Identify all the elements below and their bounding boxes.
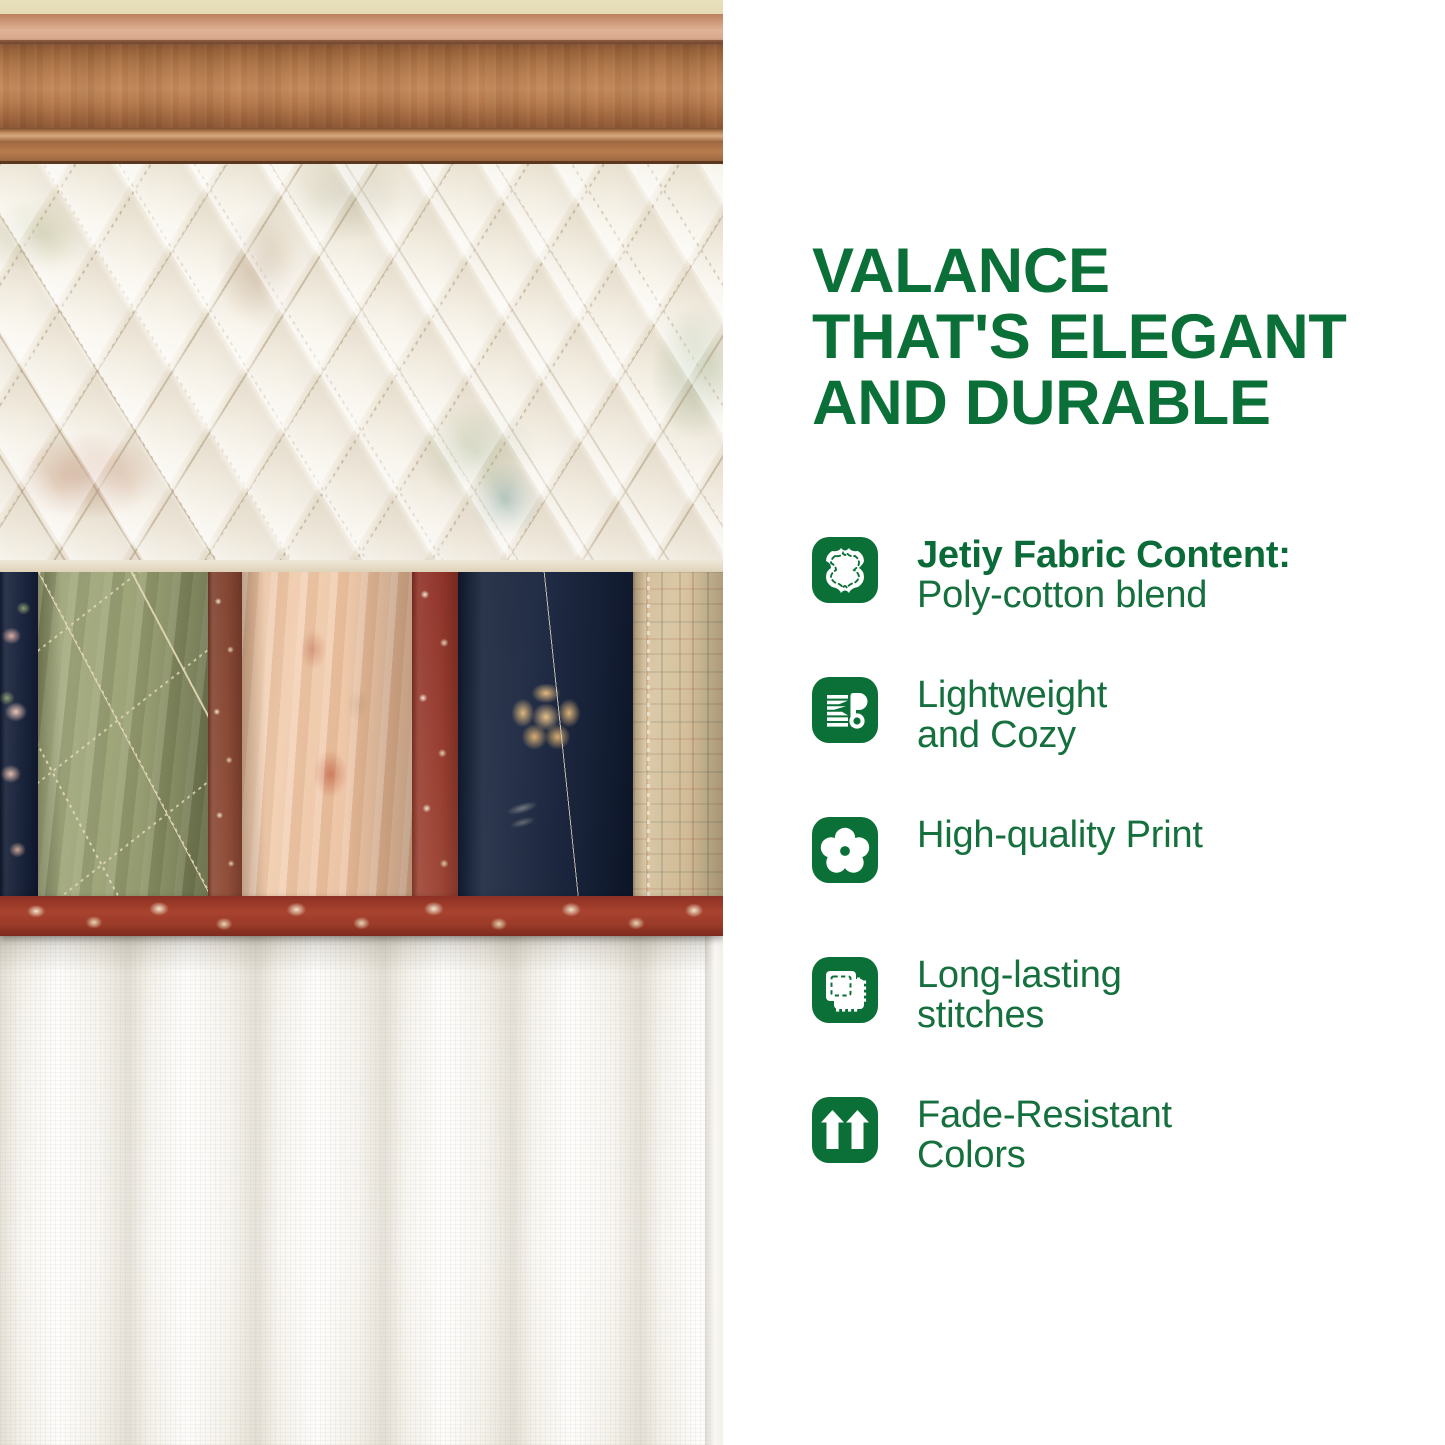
feature-label: Fade-Resistant Colors xyxy=(917,1094,1172,1176)
quilt-stitch-lines xyxy=(38,560,208,905)
feature-label-line: Long-lasting xyxy=(917,955,1122,995)
fern-sprig-motif xyxy=(491,788,558,848)
rust-floral-binding xyxy=(0,896,723,936)
cornice-top-lip xyxy=(0,14,723,44)
feature-label-line: Colors xyxy=(917,1135,1172,1175)
patch-rust-floral-wide xyxy=(412,560,458,905)
patch-peach-botanical xyxy=(242,560,412,905)
feature-label-line: Lightweight xyxy=(917,675,1107,715)
headline-line-1: VALANCE xyxy=(812,238,1372,304)
stitched-fabric-layers-icon xyxy=(812,957,878,1023)
feature-label-line: and Cozy xyxy=(917,715,1107,755)
quilt-stitch-lines xyxy=(458,560,633,905)
feature-item-fabric-content: Jetiy Fabric Content: Poly-cotton blend xyxy=(812,534,1412,674)
patch-navy-floral xyxy=(0,560,38,905)
patch-olive-green xyxy=(38,560,208,905)
feature-label-line: High-quality Print xyxy=(917,815,1203,855)
patch-tan-plaid xyxy=(633,560,723,905)
curtain-right-edge xyxy=(705,932,723,1445)
product-photo xyxy=(0,0,723,1445)
feature-label: Long-lasting stitches xyxy=(917,954,1122,1036)
feature-item-lightweight: Lightweight and Cozy xyxy=(812,674,1412,814)
headline-line-2: THAT'S ELEGANT xyxy=(812,304,1372,370)
feature-item-print: High-quality Print xyxy=(812,814,1412,954)
flower-icon xyxy=(812,817,878,883)
feature-list: Jetiy Fabric Content: Poly-cotton blend xyxy=(812,534,1412,1234)
cornice-main-moulding xyxy=(0,44,723,130)
headline-line-3: AND DURABLE xyxy=(812,370,1372,436)
fabric-roll-icon xyxy=(812,677,878,743)
patchwork-strip xyxy=(0,560,723,905)
product-feature-card: VALANCE THAT'S ELEGANT AND DURABLE Jetiy… xyxy=(0,0,1445,1445)
feature-label-line: stitches xyxy=(917,995,1122,1035)
feature-item-stitches: Long-lasting stitches xyxy=(812,954,1412,1094)
info-panel: VALANCE THAT'S ELEGANT AND DURABLE Jetiy… xyxy=(723,0,1445,1445)
feature-label: High-quality Print xyxy=(917,814,1203,855)
sheer-linen-curtain xyxy=(0,932,723,1445)
quilt-stitch-lines xyxy=(647,560,650,905)
cornice-base-moulding xyxy=(0,142,723,166)
leather-hide-icon xyxy=(812,537,878,603)
feature-label-bold: Jetiy Fabric Content: xyxy=(917,534,1291,576)
feature-label: Jetiy Fabric Content: Poly-cotton blend xyxy=(917,534,1291,616)
quilted-cream-panel xyxy=(0,164,723,564)
patch-navy-gold-leaf xyxy=(458,560,633,905)
wooden-cornice xyxy=(0,14,723,166)
patch-rust-floral-narrow xyxy=(208,560,242,905)
feature-label: Lightweight and Cozy xyxy=(917,674,1107,756)
feature-item-fade-resistant: Fade-Resistant Colors xyxy=(812,1094,1412,1234)
fabric-fold-shading xyxy=(242,560,412,905)
double-up-arrow-icon xyxy=(812,1097,878,1163)
gold-maple-leaf-motif xyxy=(510,684,582,750)
page-title: VALANCE THAT'S ELEGANT AND DURABLE xyxy=(812,238,1372,436)
feature-label-line: Fade-Resistant xyxy=(917,1095,1172,1135)
feature-label-line: Poly-cotton blend xyxy=(917,575,1291,615)
